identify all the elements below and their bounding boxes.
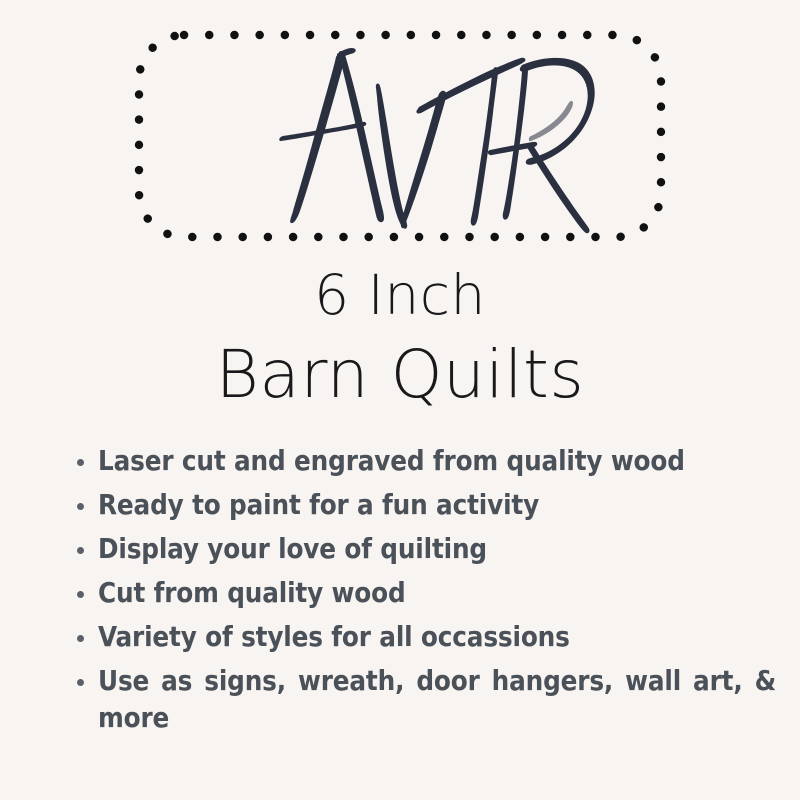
list-item: Laser cut and engraved from quality wood <box>64 443 776 480</box>
bullet-dot-icon <box>77 459 84 466</box>
list-item-label: Laser cut and engraved from quality wood <box>98 443 776 480</box>
brand-logo-badge <box>131 27 669 245</box>
bullet-dot-icon <box>77 547 84 554</box>
list-item-label: Ready to paint for a fun activity <box>98 487 776 524</box>
list-item-label: Display your love of quilting <box>98 531 776 568</box>
list-item: Cut from quality wood <box>64 575 776 612</box>
bullet-dot-icon <box>77 635 84 642</box>
bullet-dot-icon <box>77 503 84 510</box>
list-item: Variety of styles for all occassions <box>64 619 776 656</box>
avtr-script-wordmark-icon <box>279 45 609 240</box>
list-item-label: Cut from quality wood <box>98 575 776 612</box>
product-size-heading: 6 Inch <box>0 258 800 332</box>
feature-list: Laser cut and engraved from quality wood… <box>64 443 776 744</box>
list-item-label: Variety of styles for all occassions <box>98 619 776 656</box>
list-item: Ready to paint for a fun activity <box>64 487 776 524</box>
product-title-block: 6 Inch Barn Quilts <box>0 258 800 418</box>
product-name-heading: Barn Quilts <box>0 332 800 418</box>
list-item: Display your love of quilting <box>64 531 776 568</box>
bullet-dot-icon <box>77 679 84 686</box>
list-item: Use as signs, wreath, door hangers, wall… <box>64 663 776 737</box>
bullet-dot-icon <box>77 591 84 598</box>
list-item-label: Use as signs, wreath, door hangers, wall… <box>98 663 776 737</box>
product-infographic: 6 Inch Barn Quilts Laser cut and engrave… <box>0 0 800 800</box>
